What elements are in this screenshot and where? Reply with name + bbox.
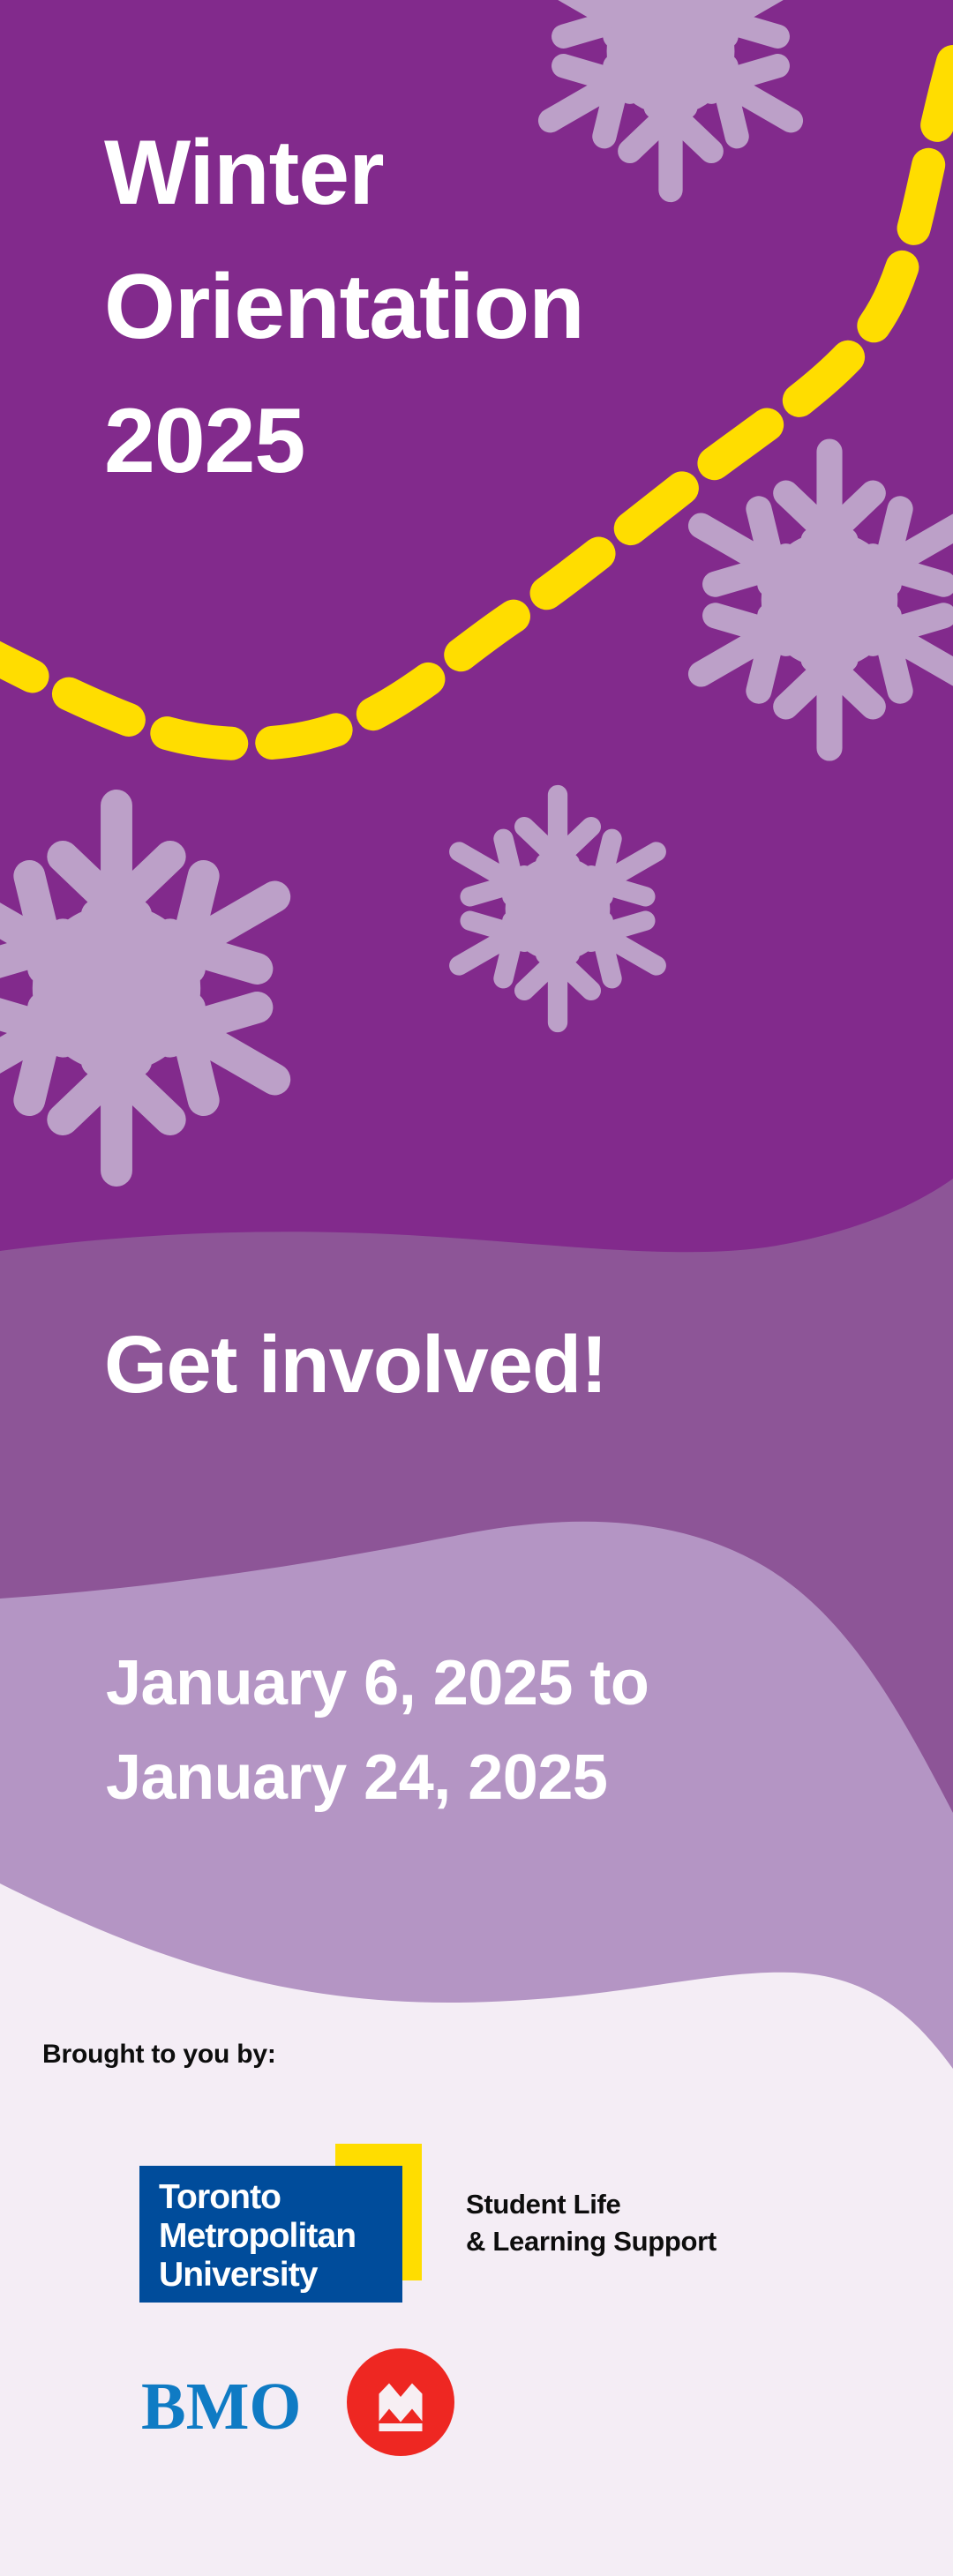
student-life-unit-name: Student Life & Learning Support (466, 2186, 717, 2260)
tmu-wordmark-line-2: Metropolitan (159, 2217, 356, 2256)
winter-orientation-poster: Winter Orientation 2025 Get involved! Ja… (0, 0, 953, 2576)
tmu-wordmark-line-3: University (159, 2256, 356, 2295)
tmu-wordmark-line-1: Toronto (159, 2178, 356, 2217)
tmu-wordmark: Toronto Metropolitan University (159, 2178, 356, 2295)
title-line-3: 2025 (104, 374, 775, 508)
student-life-line-1: Student Life (466, 2186, 717, 2223)
brought-to-you-by-label: Brought to you by: (42, 2040, 276, 2070)
sponsor-footer: Brought to you by: Toronto Metropolitan … (0, 2020, 953, 2576)
event-dates: January 6, 2025 to January 24, 2025 (106, 1636, 649, 1825)
student-life-line-2: & Learning Support (466, 2223, 717, 2260)
bmo-logo: BMO (141, 2348, 503, 2463)
bmo-roundel-icon (347, 2348, 454, 2456)
tagline: Get involved! (104, 1319, 607, 1411)
title-line-1: Winter (104, 106, 775, 240)
title-line-2: Orientation (104, 240, 775, 374)
tmu-blue-block: Toronto Metropolitan University (139, 2166, 402, 2303)
page-title: Winter Orientation 2025 (104, 106, 775, 508)
bmo-wordmark: BMO (141, 2373, 302, 2440)
tmu-logo: Toronto Metropolitan University (139, 2144, 422, 2303)
date-line-2: January 24, 2025 (106, 1731, 649, 1825)
date-line-1: January 6, 2025 to (106, 1636, 649, 1731)
